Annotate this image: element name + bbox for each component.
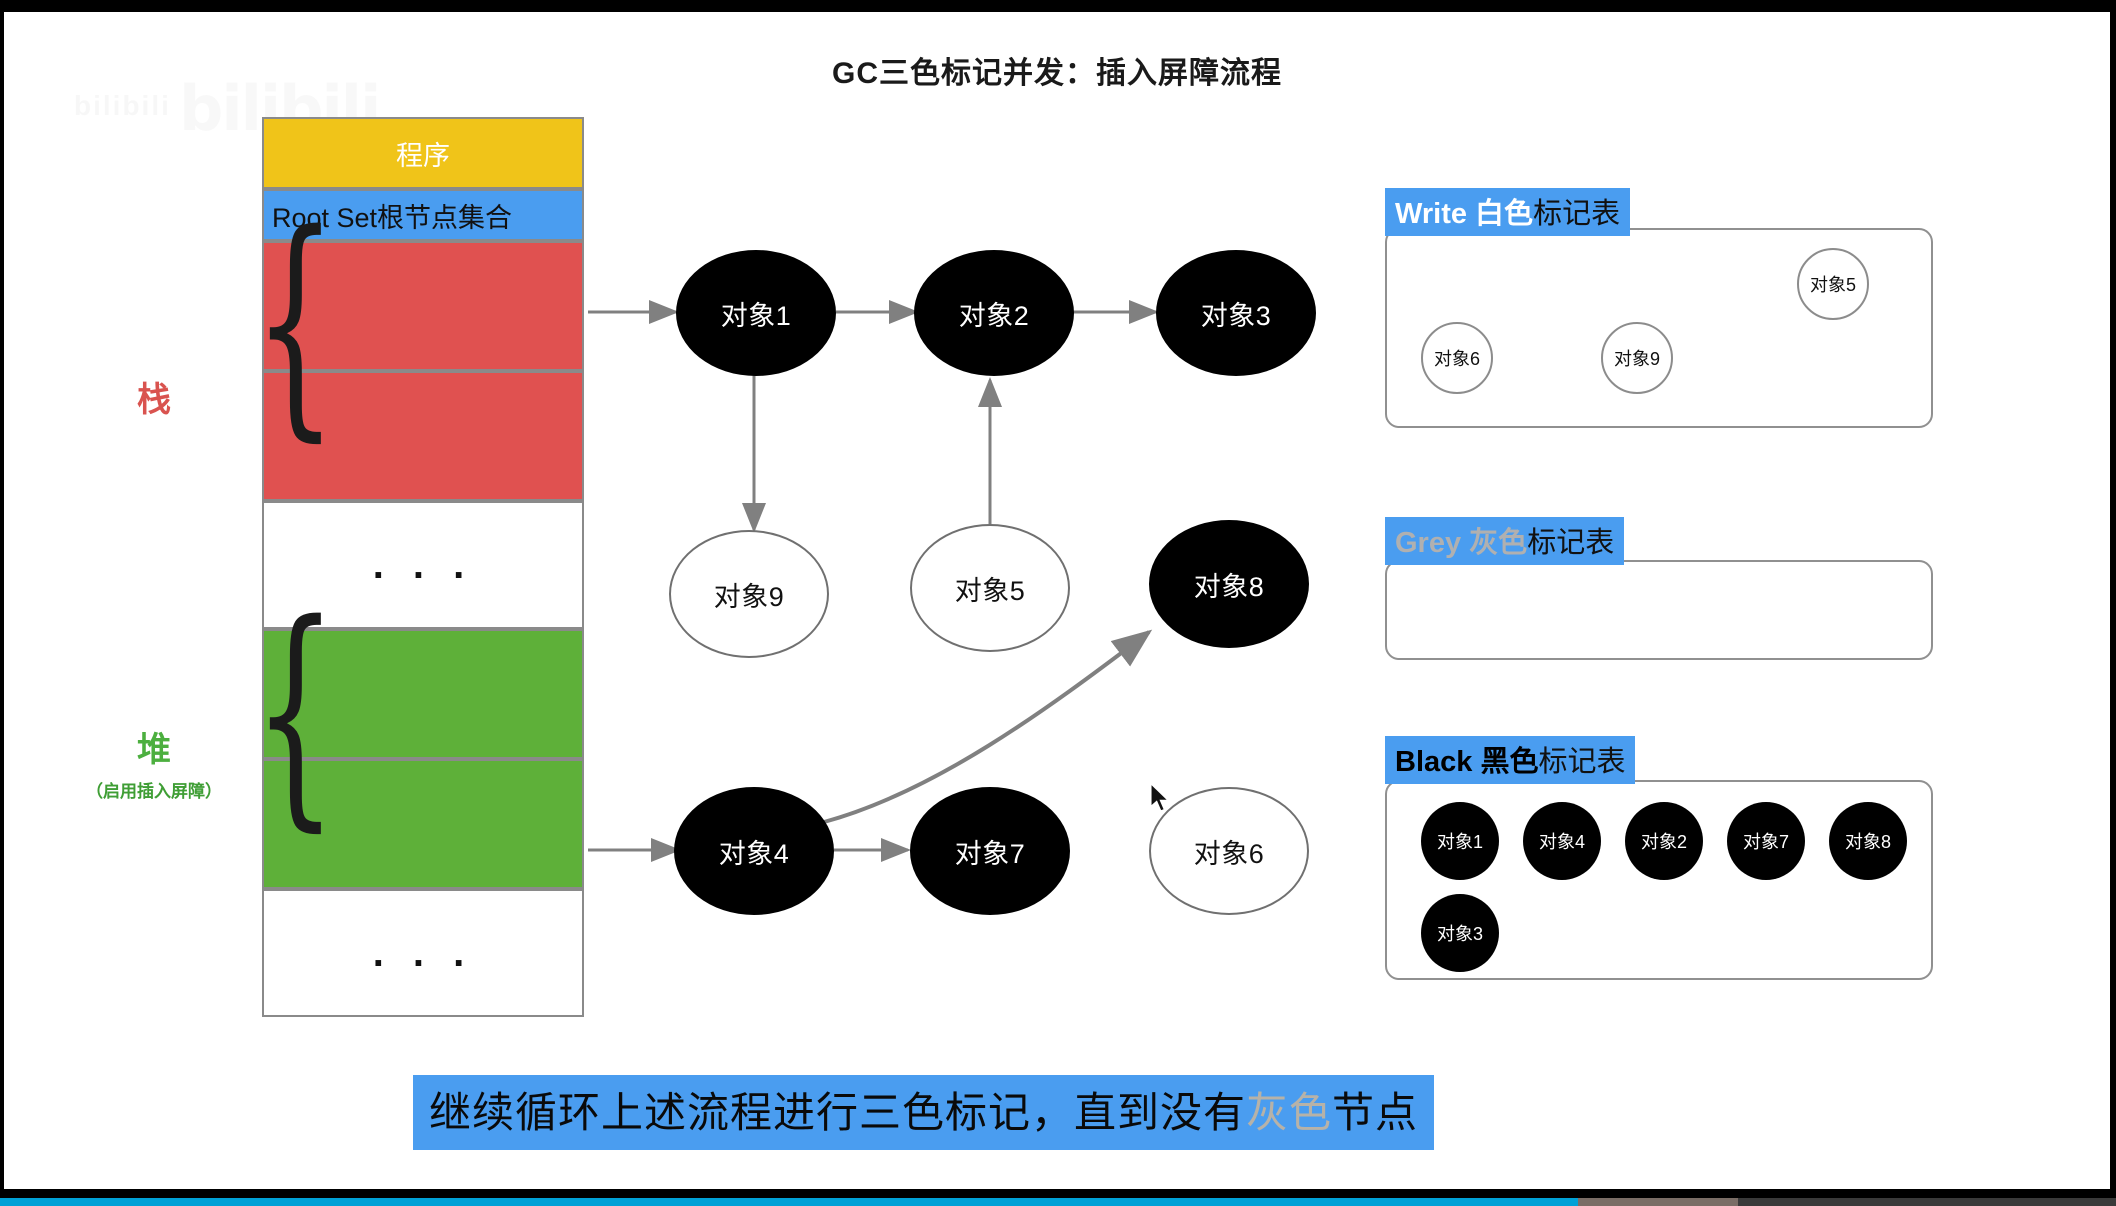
grey-table-box bbox=[1385, 560, 1933, 660]
page-title: GC三色标记并发：插入屏障流程 bbox=[4, 48, 2110, 92]
stack-brace: { bbox=[253, 182, 337, 462]
chip-label: 对象4 bbox=[1539, 828, 1585, 854]
heap-label-sub: （启用插入屏障） bbox=[59, 777, 249, 802]
chip-label: 对象8 bbox=[1845, 828, 1891, 854]
caption-part1: 继续循环上述流程进行三色标记，直到没有 bbox=[429, 1089, 1246, 1136]
black-table-chip-obj4[interactable]: 对象4 bbox=[1523, 802, 1601, 880]
stack-label-text: 栈 bbox=[137, 381, 171, 419]
stack-gap-ellipsis: . . . bbox=[373, 557, 474, 573]
grey-table-head-cn: 标记表 bbox=[1527, 527, 1614, 559]
chip-label: 对象5 bbox=[1810, 271, 1856, 297]
graph-node-obj8[interactable]: 对象8 bbox=[1149, 520, 1309, 648]
heap-label-text: 堆 bbox=[137, 731, 171, 769]
chip-label: 对象3 bbox=[1437, 920, 1483, 946]
graph-node-obj9[interactable]: 对象9 bbox=[669, 530, 829, 658]
watermark-text: bilibili bbox=[74, 90, 171, 122]
chip-label: 对象6 bbox=[1434, 345, 1480, 371]
black-table-chip-obj3[interactable]: 对象3 bbox=[1421, 894, 1499, 972]
node-label: 对象3 bbox=[1201, 294, 1272, 333]
graph-node-obj4[interactable]: 对象4 bbox=[674, 787, 834, 915]
node-label: 对象2 bbox=[959, 294, 1030, 333]
letterbox-right bbox=[2110, 0, 2116, 1206]
grey-table-head-cn-colored: 灰色 bbox=[1469, 527, 1527, 559]
white-table-head-cn: 标记表 bbox=[1533, 198, 1620, 230]
memory-block-program: 程序 bbox=[262, 117, 584, 189]
chip-label: 对象9 bbox=[1614, 345, 1660, 371]
node-label: 对象1 bbox=[721, 294, 792, 333]
white-table-header: Write 白色标记表 bbox=[1385, 188, 1630, 236]
graph-node-obj3[interactable]: 对象3 bbox=[1156, 250, 1316, 376]
stack-label: 栈 bbox=[94, 372, 214, 421]
caption-bar: 继续循环上述流程进行三色标记，直到没有灰色节点 bbox=[413, 1075, 1434, 1150]
memory-block-heap-gap: . . . bbox=[262, 889, 584, 1017]
black-table-chip-obj1[interactable]: 对象1 bbox=[1421, 802, 1499, 880]
progress-buffer bbox=[1578, 1198, 1738, 1206]
white-table-chip-obj9[interactable]: 对象9 bbox=[1601, 322, 1673, 394]
chip-label: 对象2 bbox=[1641, 828, 1687, 854]
black-table-head-en: Black bbox=[1395, 746, 1472, 778]
progress-played bbox=[0, 1198, 1578, 1206]
video-player: bilibili bilibili GC三色标记并发：插入屏障流程 bbox=[0, 0, 2116, 1206]
heap-gap-ellipsis: . . . bbox=[373, 945, 474, 961]
grey-table-head-en: Grey bbox=[1395, 527, 1461, 559]
black-table-chip-obj2[interactable]: 对象2 bbox=[1625, 802, 1703, 880]
graph-node-obj7[interactable]: 对象7 bbox=[910, 787, 1070, 915]
node-label: 对象6 bbox=[1194, 832, 1265, 871]
letterbox-top bbox=[0, 0, 2116, 12]
caption-grey-word: 灰色 bbox=[1246, 1089, 1332, 1136]
chip-label: 对象7 bbox=[1743, 828, 1789, 854]
mouse-cursor-icon bbox=[1149, 782, 1173, 814]
video-progress-bar[interactable] bbox=[0, 1198, 2116, 1206]
black-table-box: 对象1 对象4 对象2 对象7 对象8 对象3 bbox=[1385, 780, 1933, 980]
black-table-head-cn-colored: 黑色 bbox=[1480, 746, 1538, 778]
program-label: 程序 bbox=[396, 134, 450, 173]
heap-label: 堆 （启用插入屏障） bbox=[59, 722, 249, 802]
black-table-header: Black 黑色标记表 bbox=[1385, 736, 1635, 784]
graph-node-obj2[interactable]: 对象2 bbox=[914, 250, 1074, 376]
white-table-box: 对象5 对象6 对象9 bbox=[1385, 228, 1933, 428]
node-label: 对象4 bbox=[719, 832, 790, 871]
white-table-head-cn-colored: 白色 bbox=[1475, 198, 1533, 230]
graph-node-obj6[interactable]: 对象6 bbox=[1149, 787, 1309, 915]
graph-node-obj1[interactable]: 对象1 bbox=[676, 250, 836, 376]
white-table-chip-obj6[interactable]: 对象6 bbox=[1421, 322, 1493, 394]
grey-table-header: Grey 灰色标记表 bbox=[1385, 517, 1624, 565]
caption-part2: 节点 bbox=[1332, 1089, 1418, 1136]
node-label: 对象7 bbox=[955, 832, 1026, 871]
graph-node-obj5[interactable]: 对象5 bbox=[910, 524, 1070, 652]
black-table-chip-obj8[interactable]: 对象8 bbox=[1829, 802, 1907, 880]
node-label: 对象5 bbox=[955, 569, 1026, 608]
black-table-chip-obj7[interactable]: 对象7 bbox=[1727, 802, 1805, 880]
white-table-head-en: Write bbox=[1395, 198, 1467, 230]
white-table-chip-obj5[interactable]: 对象5 bbox=[1797, 248, 1869, 320]
chip-label: 对象1 bbox=[1437, 828, 1483, 854]
black-table-head-cn: 标记表 bbox=[1538, 746, 1625, 778]
heap-brace: { bbox=[253, 572, 337, 852]
node-label: 对象8 bbox=[1194, 565, 1265, 604]
slide-canvas: bilibili bilibili GC三色标记并发：插入屏障流程 bbox=[4, 12, 2110, 1189]
node-label: 对象9 bbox=[714, 575, 785, 614]
